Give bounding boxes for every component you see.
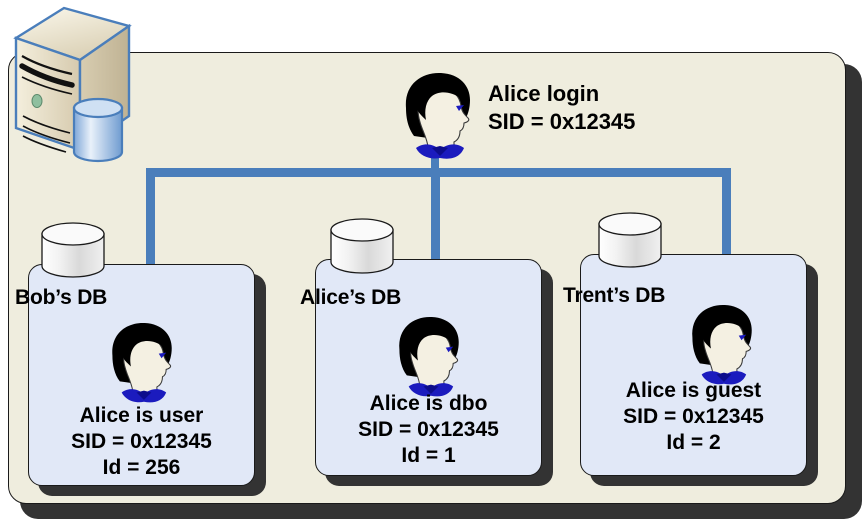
bobs-db-line3: Id = 256	[28, 455, 255, 481]
trents-db-text: Alice is guest SID = 0x12345 Id = 2	[580, 378, 807, 456]
login-caption-line2: SID = 0x12345	[488, 108, 635, 136]
trents-db-label: Trent’s DB	[563, 284, 665, 308]
bobs-db-line1: Alice is user	[28, 403, 255, 429]
person-profile-icon-trents	[685, 300, 761, 386]
database-cylinder-icon-trents	[595, 212, 665, 270]
person-profile-icon-alices	[392, 312, 468, 398]
database-cylinder-icon-bobs	[38, 222, 108, 280]
database-cylinder-icon	[74, 99, 122, 161]
person-profile-icon-bobs	[105, 318, 181, 404]
diagram-canvas: Alice login SID = 0x12345 Bob’s DB	[0, 0, 864, 529]
alices-db-label: Alice’s DB	[300, 286, 401, 310]
bobs-db-text: Alice is user SID = 0x12345 Id = 256	[28, 403, 255, 481]
server-tower-icon	[2, 4, 142, 169]
trents-db-line1: Alice is guest	[580, 378, 807, 404]
person-profile-icon-login	[398, 68, 480, 160]
trents-db-line2: SID = 0x12345	[580, 404, 807, 430]
login-caption-line1: Alice login	[488, 80, 635, 108]
login-caption: Alice login SID = 0x12345	[488, 80, 635, 136]
bobs-db-label: Bob’s DB	[15, 286, 107, 310]
alices-db-text: Alice is dbo SID = 0x12345 Id = 1	[315, 391, 542, 469]
bobs-db-line2: SID = 0x12345	[28, 429, 255, 455]
alices-db-line1: Alice is dbo	[315, 391, 542, 417]
database-cylinder-icon-alices	[327, 218, 397, 276]
alices-db-line3: Id = 1	[315, 443, 542, 469]
alices-db-line2: SID = 0x12345	[315, 417, 542, 443]
trents-db-line3: Id = 2	[580, 430, 807, 456]
